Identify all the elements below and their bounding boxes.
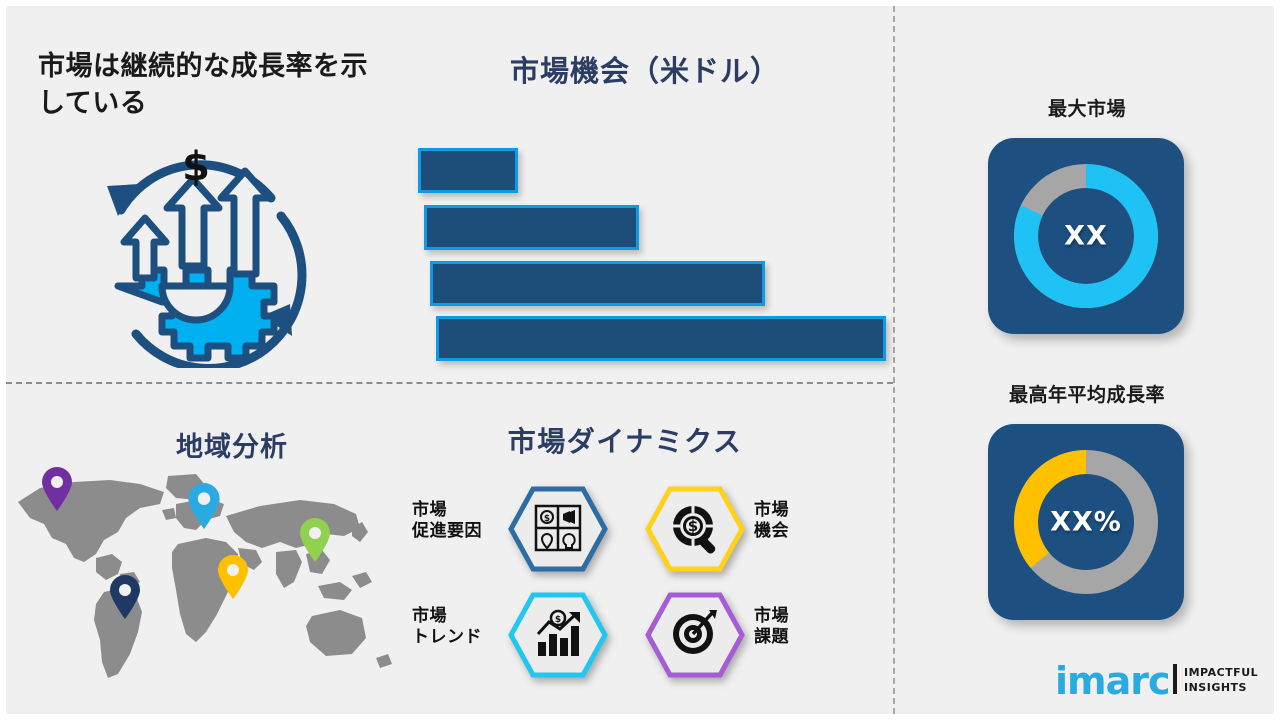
- dynamics-hex-drivers[interactable]: $: [508, 486, 608, 572]
- bar-item: [436, 316, 886, 361]
- slide-root: 市場は継続的な成長率を示している $ 市場機会（米ドル） 地域分析: [0, 0, 1280, 720]
- horizontal-divider: [6, 382, 893, 384]
- growth-cycle-gear-icon: $: [76, 138, 316, 368]
- pin-north-america: [40, 466, 74, 512]
- pin-east-asia: [298, 517, 332, 563]
- pin-middle-east: [216, 554, 250, 600]
- largest-market-title: 最大市場: [952, 94, 1222, 121]
- highest-cagr-card: XX%: [988, 424, 1184, 620]
- highest-cagr-title: 最高年平均成長率: [952, 380, 1222, 407]
- svg-text:$: $: [182, 144, 210, 190]
- logo-wordmark: imarc: [1055, 659, 1170, 703]
- svg-text:$: $: [555, 615, 561, 625]
- bar-item: [424, 205, 639, 250]
- svg-text:$: $: [544, 514, 550, 524]
- dynamics-hex-challenges[interactable]: [645, 592, 745, 678]
- logo-tagline: IMPACTFUL INSIGHTS: [1184, 666, 1258, 696]
- pin-europe: [186, 482, 222, 530]
- dynamics-heading: 市場ダイナミクス: [415, 420, 835, 460]
- opportunity-bar-chart: [418, 145, 878, 350]
- largest-market-value: XX: [988, 221, 1184, 252]
- dynamics-label-drivers: 市場 促進要因: [412, 500, 508, 543]
- region-heading: 地域分析: [112, 425, 352, 464]
- dynamics-label-challenges: 市場 課題: [754, 606, 850, 649]
- imarc-logo: imarc IMPACTFUL INSIGHTS: [1055, 655, 1255, 703]
- svg-text:$: $: [688, 517, 698, 535]
- highest-cagr-value: XX%: [988, 507, 1184, 538]
- dynamics-hex-opportunities[interactable]: $: [645, 486, 745, 572]
- logo-divider: [1173, 664, 1177, 694]
- vertical-divider: [893, 6, 895, 714]
- dynamics-label-opportunities: 市場 機会: [754, 500, 850, 543]
- largest-market-card: XX: [988, 138, 1184, 334]
- opportunity-heading: 市場機会（米ドル）: [415, 48, 875, 90]
- growth-heading: 市場は継続的な成長率を示している: [38, 48, 383, 123]
- bar-item: [430, 261, 765, 306]
- dynamics-label-trends: 市場 トレンド: [412, 606, 508, 649]
- dynamics-hex-trends[interactable]: $: [508, 592, 608, 678]
- pin-south-america: [108, 574, 142, 620]
- world-map: [0, 462, 400, 694]
- bar-item: [418, 148, 518, 193]
- puzzle-pieces-icon: $: [536, 506, 580, 550]
